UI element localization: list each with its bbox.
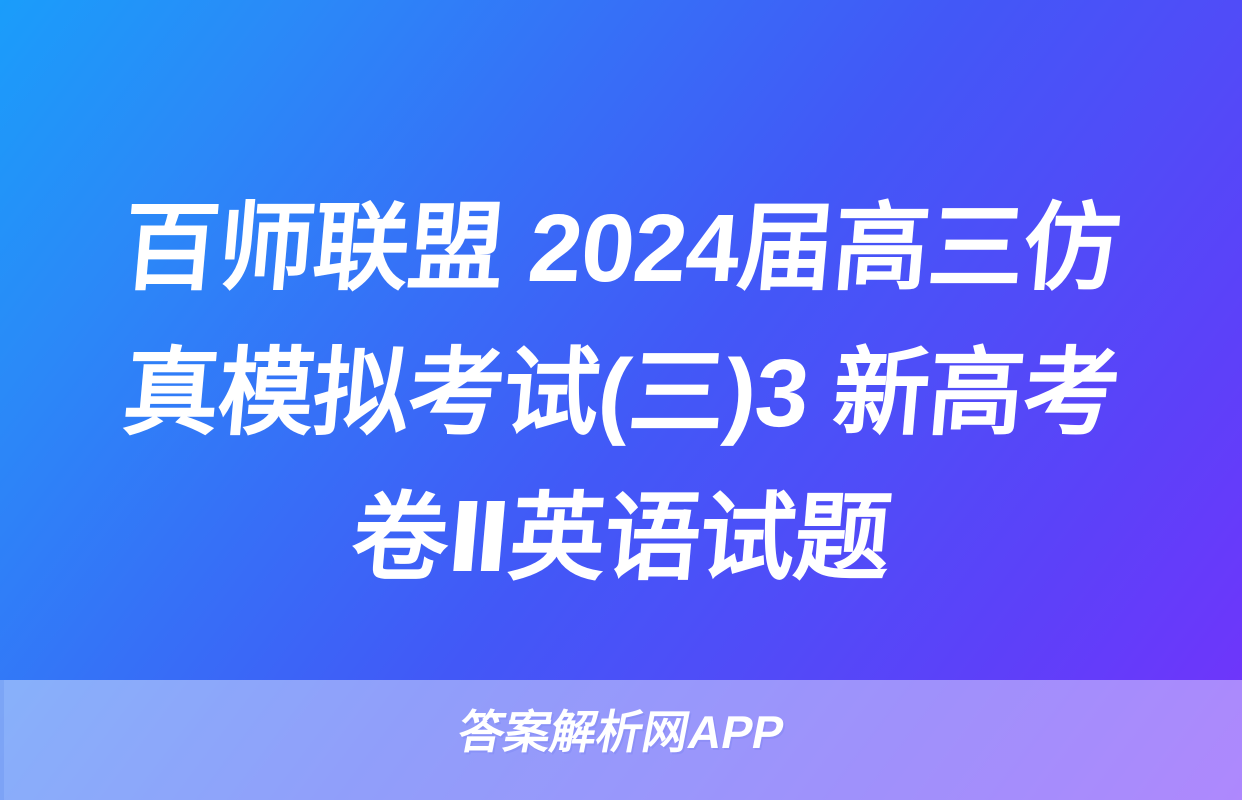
- watermark-container: 答案解析网APP: [0, 705, 1242, 759]
- exam-paper-cover-poster: 百师联盟 2024届高三仿 真模拟考试(三)3 新高考 卷Ⅱ英语试题 答案解析网…: [0, 0, 1242, 800]
- title-line-3: 卷Ⅱ英语试题: [34, 466, 1209, 611]
- title-line-1: 百师联盟 2024届高三仿: [34, 176, 1209, 321]
- app-watermark-label: 答案解析网APP: [453, 705, 788, 759]
- title-line-2: 真模拟考试(三)3 新高考: [34, 321, 1209, 466]
- page-title: 百师联盟 2024届高三仿 真模拟考试(三)3 新高考 卷Ⅱ英语试题: [0, 176, 1242, 611]
